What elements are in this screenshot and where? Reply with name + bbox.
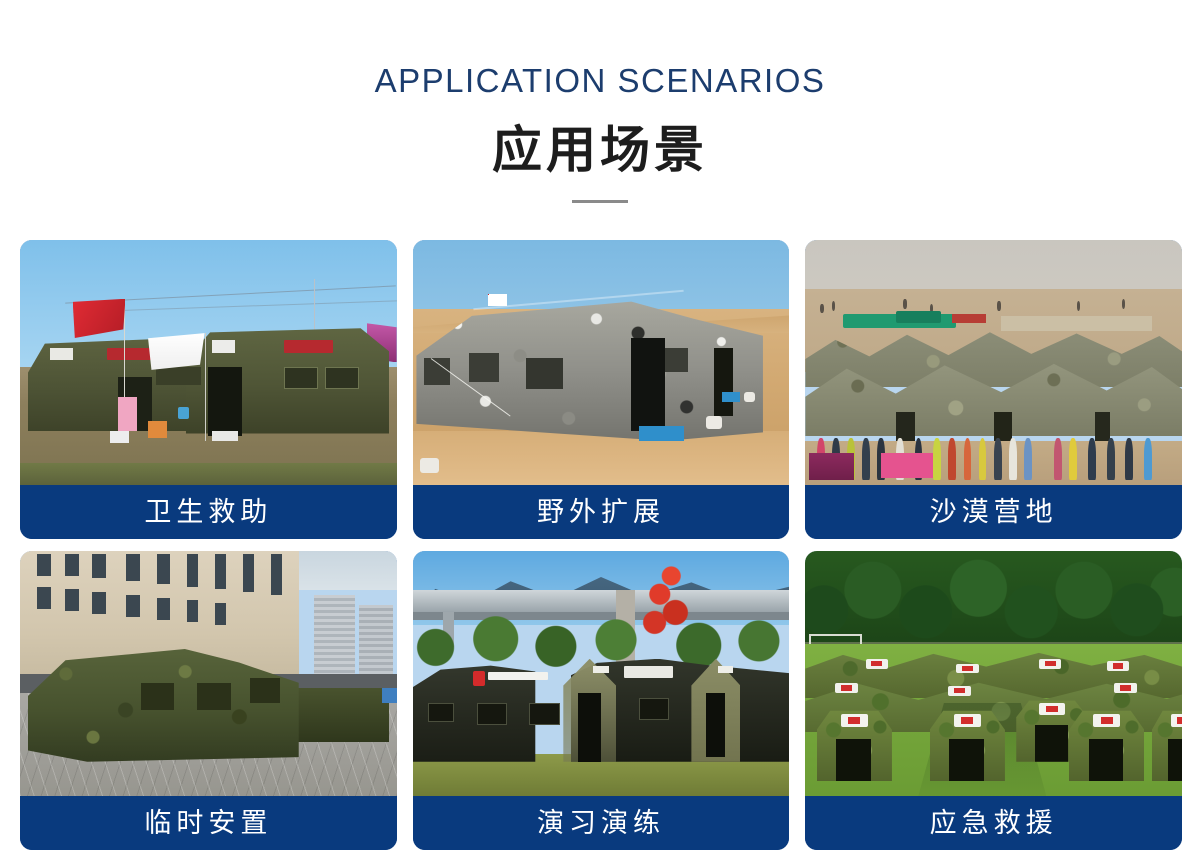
secondary-tent bbox=[291, 688, 389, 742]
page-subtitle-en: APPLICATION SCENARIOS bbox=[0, 64, 1200, 97]
building-window bbox=[65, 554, 79, 576]
page-title: 应用场景 bbox=[0, 123, 1200, 178]
person bbox=[1107, 438, 1115, 480]
sandbag-anchor bbox=[706, 416, 721, 428]
building-window bbox=[92, 554, 106, 579]
scenario-photo-desert-camp bbox=[805, 240, 1182, 485]
building-window bbox=[126, 595, 140, 617]
tent-window bbox=[469, 353, 499, 382]
medical-tent bbox=[1069, 708, 1144, 782]
red-cross-marking bbox=[1107, 661, 1130, 671]
tent-door bbox=[1089, 739, 1124, 782]
application-scenarios-page: APPLICATION SCENARIOS 应用场景 bbox=[0, 0, 1200, 851]
building-window bbox=[187, 554, 198, 587]
scenario-photo-emergency-rescue bbox=[805, 551, 1182, 796]
scenario-card-temporary-resettlement[interactable]: 临时安置 bbox=[20, 551, 397, 850]
tent-window bbox=[477, 703, 507, 725]
antenna-mast bbox=[314, 279, 315, 338]
building-window bbox=[187, 600, 198, 622]
tent-door bbox=[714, 348, 733, 417]
flag-pole bbox=[205, 333, 206, 441]
person bbox=[1069, 438, 1077, 480]
tent-door bbox=[1168, 739, 1182, 782]
white-crate bbox=[212, 431, 238, 441]
person bbox=[1054, 438, 1062, 480]
medical-tent bbox=[930, 708, 1005, 782]
medical-tent bbox=[817, 708, 892, 782]
tent-door bbox=[631, 338, 665, 431]
tent-logo bbox=[107, 348, 152, 360]
red-cross-marking bbox=[835, 683, 858, 693]
tent-window bbox=[250, 678, 280, 703]
red-cross-icon bbox=[1039, 703, 1065, 714]
tent-window bbox=[156, 367, 201, 384]
pink-banner bbox=[118, 397, 137, 431]
scenario-caption: 演习演练 bbox=[413, 796, 790, 850]
white-crate bbox=[110, 431, 129, 443]
blue-canopy bbox=[382, 688, 397, 703]
green-canopy bbox=[896, 311, 941, 323]
tent-window bbox=[526, 358, 564, 390]
tent-door bbox=[706, 693, 725, 757]
tent-door bbox=[1035, 725, 1068, 762]
blue-barrel bbox=[178, 407, 189, 419]
building-window bbox=[92, 592, 106, 614]
building-window bbox=[37, 587, 51, 609]
highway-overpass bbox=[413, 590, 790, 612]
building-window bbox=[215, 603, 226, 625]
scenario-photo-field-expansion bbox=[413, 240, 790, 485]
building-window bbox=[271, 554, 282, 595]
red-cross-icon bbox=[841, 714, 868, 727]
building-window bbox=[126, 554, 140, 581]
tent-window bbox=[325, 367, 359, 389]
scenario-card-medical-relief[interactable]: 卫生救助 bbox=[20, 240, 397, 539]
building-window bbox=[243, 554, 254, 592]
tent-window bbox=[529, 703, 559, 725]
person bbox=[1024, 438, 1032, 480]
scenario-caption: 临时安置 bbox=[20, 796, 397, 850]
distant-person bbox=[903, 299, 907, 309]
page-header: APPLICATION SCENARIOS 应用场景 bbox=[0, 0, 1200, 203]
tent-door bbox=[836, 739, 871, 782]
building-window bbox=[65, 589, 79, 611]
tent-vent-panel bbox=[212, 340, 235, 352]
distant-person bbox=[997, 301, 1001, 311]
orange-crate bbox=[148, 421, 167, 438]
purple-banner bbox=[809, 453, 854, 480]
person bbox=[994, 438, 1002, 480]
sandbag-anchor bbox=[420, 458, 439, 473]
scenario-gallery: 卫生救助 bbox=[20, 240, 1182, 850]
tent-window bbox=[639, 698, 669, 720]
red-cross-marking bbox=[1114, 683, 1137, 693]
scenario-caption: 野外扩展 bbox=[413, 485, 790, 539]
pink-banner bbox=[881, 453, 934, 478]
scenario-photo-medical-relief bbox=[20, 240, 397, 485]
scenario-card-field-expansion[interactable]: 野外扩展 bbox=[413, 240, 790, 539]
person bbox=[948, 438, 956, 480]
crowd bbox=[805, 438, 1182, 480]
tent-window bbox=[197, 683, 231, 710]
china-health-logo bbox=[473, 671, 548, 686]
sand-foreground bbox=[413, 431, 790, 485]
white-flag bbox=[148, 333, 204, 370]
tent-window bbox=[141, 683, 175, 710]
person bbox=[1144, 438, 1152, 480]
blue-groundsheet bbox=[639, 426, 684, 441]
person bbox=[933, 438, 941, 480]
scenario-card-emergency-rescue[interactable]: 应急救援 bbox=[805, 551, 1182, 850]
tent-window bbox=[428, 703, 454, 723]
title-divider bbox=[572, 200, 628, 203]
scenario-caption: 沙漠营地 bbox=[805, 485, 1182, 539]
red-cross-marking bbox=[488, 294, 507, 306]
person bbox=[964, 438, 972, 480]
logo-wordmark bbox=[624, 666, 673, 678]
red-cross-icon bbox=[1171, 714, 1182, 727]
blue-groundsheet bbox=[722, 392, 741, 402]
tan-canopy bbox=[1001, 316, 1152, 331]
tent-vent-panel bbox=[718, 666, 733, 673]
building-window bbox=[157, 598, 171, 620]
red-cross-marking bbox=[948, 686, 971, 696]
tent-door bbox=[578, 693, 601, 762]
person bbox=[979, 438, 987, 480]
red-cross-marking bbox=[956, 664, 979, 674]
tent-window bbox=[665, 348, 688, 373]
grass-strip bbox=[20, 463, 397, 485]
red-cross-icon bbox=[954, 714, 981, 727]
red-cross-marking bbox=[866, 659, 889, 669]
tent-vent-panel bbox=[50, 348, 73, 360]
logo-wordmark bbox=[488, 672, 548, 681]
red-cross-icon bbox=[473, 671, 485, 686]
person bbox=[1009, 438, 1017, 480]
scenario-photo-temporary-resettlement bbox=[20, 551, 397, 796]
scenario-caption: 应急救援 bbox=[805, 796, 1182, 850]
red-cross-icon bbox=[1093, 714, 1120, 727]
tent-logo bbox=[284, 340, 333, 352]
scenario-card-desert-camp[interactable]: 沙漠营地 bbox=[805, 240, 1182, 539]
person bbox=[862, 438, 870, 480]
red-cross-marking bbox=[1039, 659, 1062, 669]
building-window bbox=[215, 554, 226, 590]
tent-window bbox=[284, 367, 318, 389]
tent-door bbox=[208, 367, 242, 436]
scenario-caption: 卫生救助 bbox=[20, 485, 397, 539]
tree-line bbox=[413, 615, 790, 669]
tent-vent-panel bbox=[593, 666, 608, 673]
building-window bbox=[37, 554, 51, 576]
tent-door bbox=[949, 739, 984, 782]
tree-line bbox=[805, 551, 1182, 649]
person bbox=[1125, 438, 1133, 480]
person bbox=[1088, 438, 1096, 480]
scenario-card-drill-exercise[interactable]: 演习演练 bbox=[413, 551, 790, 850]
sandbag-anchor bbox=[744, 392, 755, 402]
red-truck bbox=[952, 314, 986, 324]
building-window bbox=[157, 554, 171, 584]
scenario-photo-drill-exercise bbox=[413, 551, 790, 796]
